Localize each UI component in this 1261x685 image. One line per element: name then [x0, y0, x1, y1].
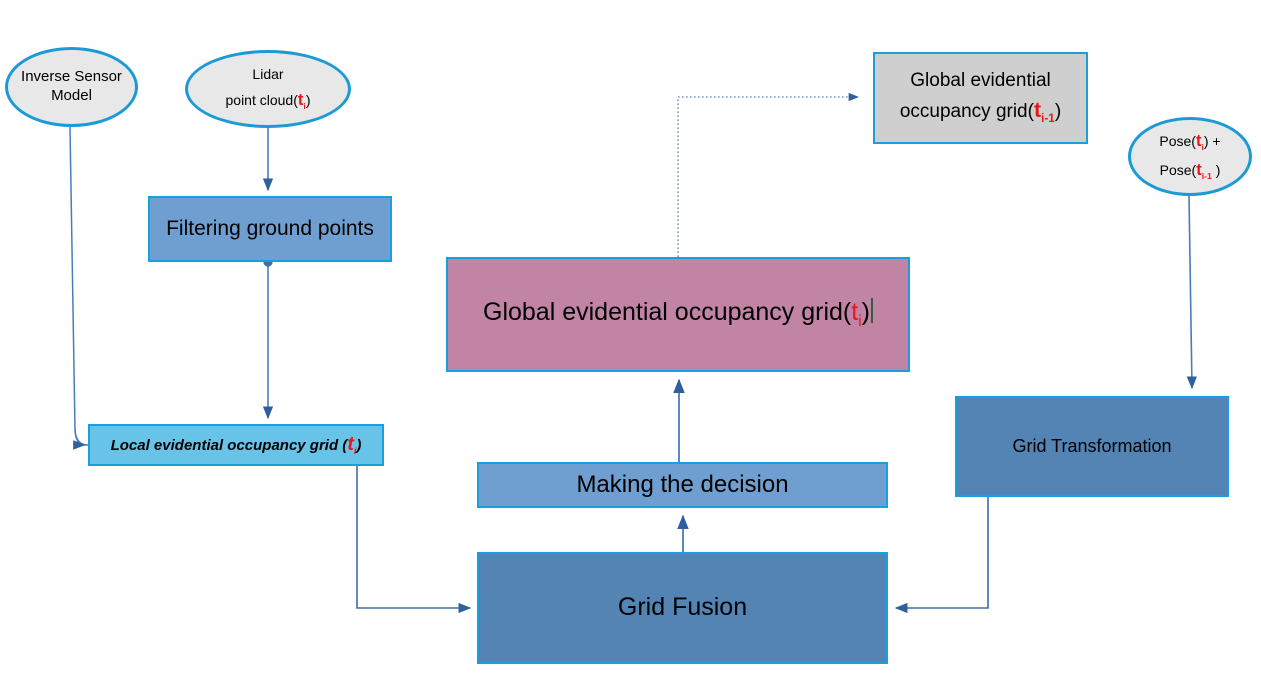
node-grid-fusion[interactable]: Grid Fusion [477, 552, 888, 664]
edge-filtering-to-local-grid [263, 257, 272, 418]
edge-local-grid-to-grid-fusion [357, 466, 470, 608]
lidar-line2-suffix: ) [306, 92, 311, 108]
lidar-line2-prefix: point cloud( [226, 92, 298, 108]
node-inverse-sensor-model[interactable]: Inverse Sensor Model [5, 47, 138, 127]
edge-global-grid-to-previous-grid [678, 97, 858, 257]
lidar-point-cloud-label: Lidar point cloud(ti) [226, 66, 311, 111]
node-local-evidential-occupancy-grid[interactable]: Local evidential occupancy grid (ti) [88, 424, 384, 466]
lidar-line1: Lidar [252, 66, 283, 82]
pose-line1-suffix: ) + [1204, 133, 1221, 149]
edge-pose-to-grid-transformation [1189, 196, 1192, 388]
global-grid-ti-label: Global evidential occupancy grid(ti) [483, 297, 873, 331]
grid-transformation-label: Grid Transformation [1012, 435, 1171, 458]
local-grid-label: Local evidential occupancy grid (ti) [111, 432, 362, 458]
node-pose-sum[interactable]: Pose(ti) + Pose(ti-1 ) [1128, 117, 1252, 196]
inverse-sensor-model-label: Inverse Sensor Model [21, 68, 122, 106]
global-grid-ti-1-label: Global evidential occupancy grid(ti-1) [900, 69, 1061, 126]
inverse-sensor-model-line2: Model [51, 87, 92, 104]
text-cursor-caret [871, 298, 873, 323]
node-global-evidential-occupancy-grid-ti[interactable]: Global evidential occupancy grid(ti) [446, 257, 910, 372]
grid-fusion-label: Grid Fusion [618, 592, 747, 623]
node-making-the-decision[interactable]: Making the decision [477, 462, 888, 508]
local-grid-prefix: Local evidential occupancy grid ( [111, 437, 348, 454]
pose-line1-prefix: Pose( [1159, 133, 1196, 149]
global-grid-ti-1-line2-suffix: ) [1055, 101, 1061, 122]
global-grid-ti-1-line2-prefix: occupancy grid( [900, 101, 1034, 122]
local-grid-suffix: ) [356, 437, 361, 454]
making-the-decision-label: Making the decision [576, 470, 788, 500]
pose-line2-sub: i-1 [1202, 171, 1212, 181]
global-grid-ti-prefix: Global evidential occupancy grid( [483, 298, 851, 326]
node-grid-transformation[interactable]: Grid Transformation [955, 396, 1229, 497]
edge-grid-transformation-to-grid-fusion [896, 497, 988, 608]
diagram-canvas: Inverse Sensor Model Lidar point cloud(t… [0, 0, 1261, 685]
filtering-ground-points-label: Filtering ground points [166, 216, 374, 242]
global-grid-ti-1-line1: Global evidential [910, 70, 1050, 91]
node-filtering-ground-points[interactable]: Filtering ground points [148, 196, 392, 262]
node-lidar-point-cloud[interactable]: Lidar point cloud(ti) [185, 50, 351, 128]
edge-inverse-sensor-model-to-local-grid [70, 127, 88, 445]
pose-sum-label: Pose(ti) + Pose(ti-1 ) [1159, 131, 1220, 181]
pose-line2-suffix: ) [1212, 162, 1221, 178]
global-grid-ti-suffix: ) [862, 298, 870, 326]
global-grid-ti-1-time-sub: i-1 [1041, 112, 1055, 125]
pose-line2-prefix: Pose( [1160, 162, 1197, 178]
node-global-evidential-occupancy-grid-ti-1[interactable]: Global evidential occupancy grid(ti-1) [873, 52, 1088, 144]
inverse-sensor-model-line1: Inverse Sensor [21, 68, 122, 85]
